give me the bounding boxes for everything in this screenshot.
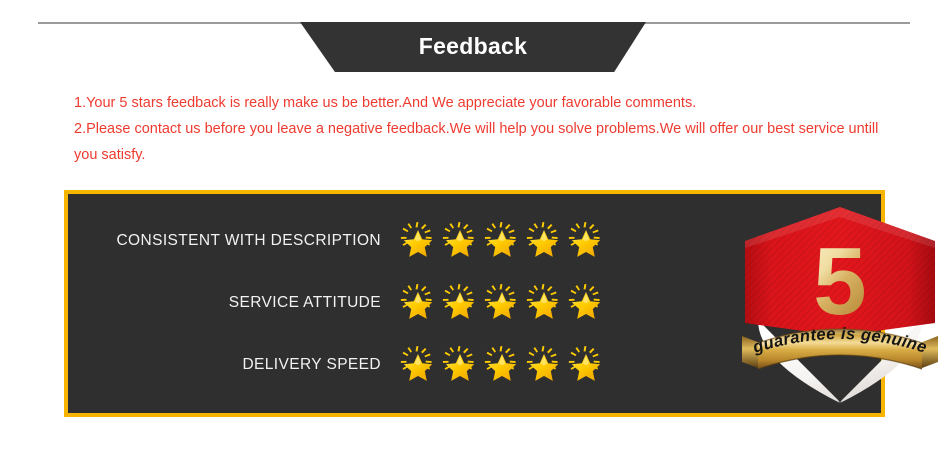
- star-icon: [524, 283, 564, 323]
- rating-rows: CONSISTENT WITH DESCRIPTION: [68, 216, 638, 402]
- star-icon: [566, 345, 606, 385]
- star-icon: [440, 221, 480, 261]
- note-line-2: 2.Please contact us before you leave a n…: [74, 116, 884, 168]
- page-title: Feedback: [419, 35, 528, 58]
- rating-panel: CONSISTENT WITH DESCRIPTION: [64, 190, 885, 417]
- shield-badge-icon: 5 guarantee is genuine: [740, 202, 940, 407]
- note-line-1: 1.Your 5 stars feedback is really make u…: [74, 90, 884, 116]
- shield-ribbon: guarantee is genuine: [750, 325, 929, 369]
- star-icon: [566, 283, 606, 323]
- shield-number: 5: [813, 228, 866, 335]
- star-rating-consistent-with-description: [398, 221, 606, 261]
- rating-row: CONSISTENT WITH DESCRIPTION: [68, 216, 638, 266]
- feedback-banner: Feedback: [300, 22, 646, 72]
- rating-row: DELIVERY SPEED: [68, 340, 638, 390]
- header-rule-left: [38, 22, 302, 24]
- rating-label-delivery-speed: DELIVERY SPEED: [68, 356, 398, 374]
- star-icon: [482, 345, 522, 385]
- star-rating-delivery-speed: [398, 345, 606, 385]
- star-icon: [440, 283, 480, 323]
- star-icon: [398, 345, 438, 385]
- header-banner: Feedback: [0, 0, 950, 80]
- star-icon: [524, 221, 564, 261]
- star-icon: [398, 221, 438, 261]
- star-icon: [398, 283, 438, 323]
- star-rating-service-attitude: [398, 283, 606, 323]
- rating-row: SERVICE ATTITUDE: [68, 278, 638, 328]
- rating-label-service-attitude: SERVICE ATTITUDE: [68, 294, 398, 312]
- star-icon: [482, 283, 522, 323]
- star-icon: [440, 345, 480, 385]
- star-icon: [524, 345, 564, 385]
- rating-label-consistent-with-description: CONSISTENT WITH DESCRIPTION: [68, 232, 398, 250]
- feedback-notes: 1.Your 5 stars feedback is really make u…: [74, 90, 884, 168]
- star-icon: [482, 221, 522, 261]
- header-rule-right: [644, 22, 910, 24]
- star-icon: [566, 221, 606, 261]
